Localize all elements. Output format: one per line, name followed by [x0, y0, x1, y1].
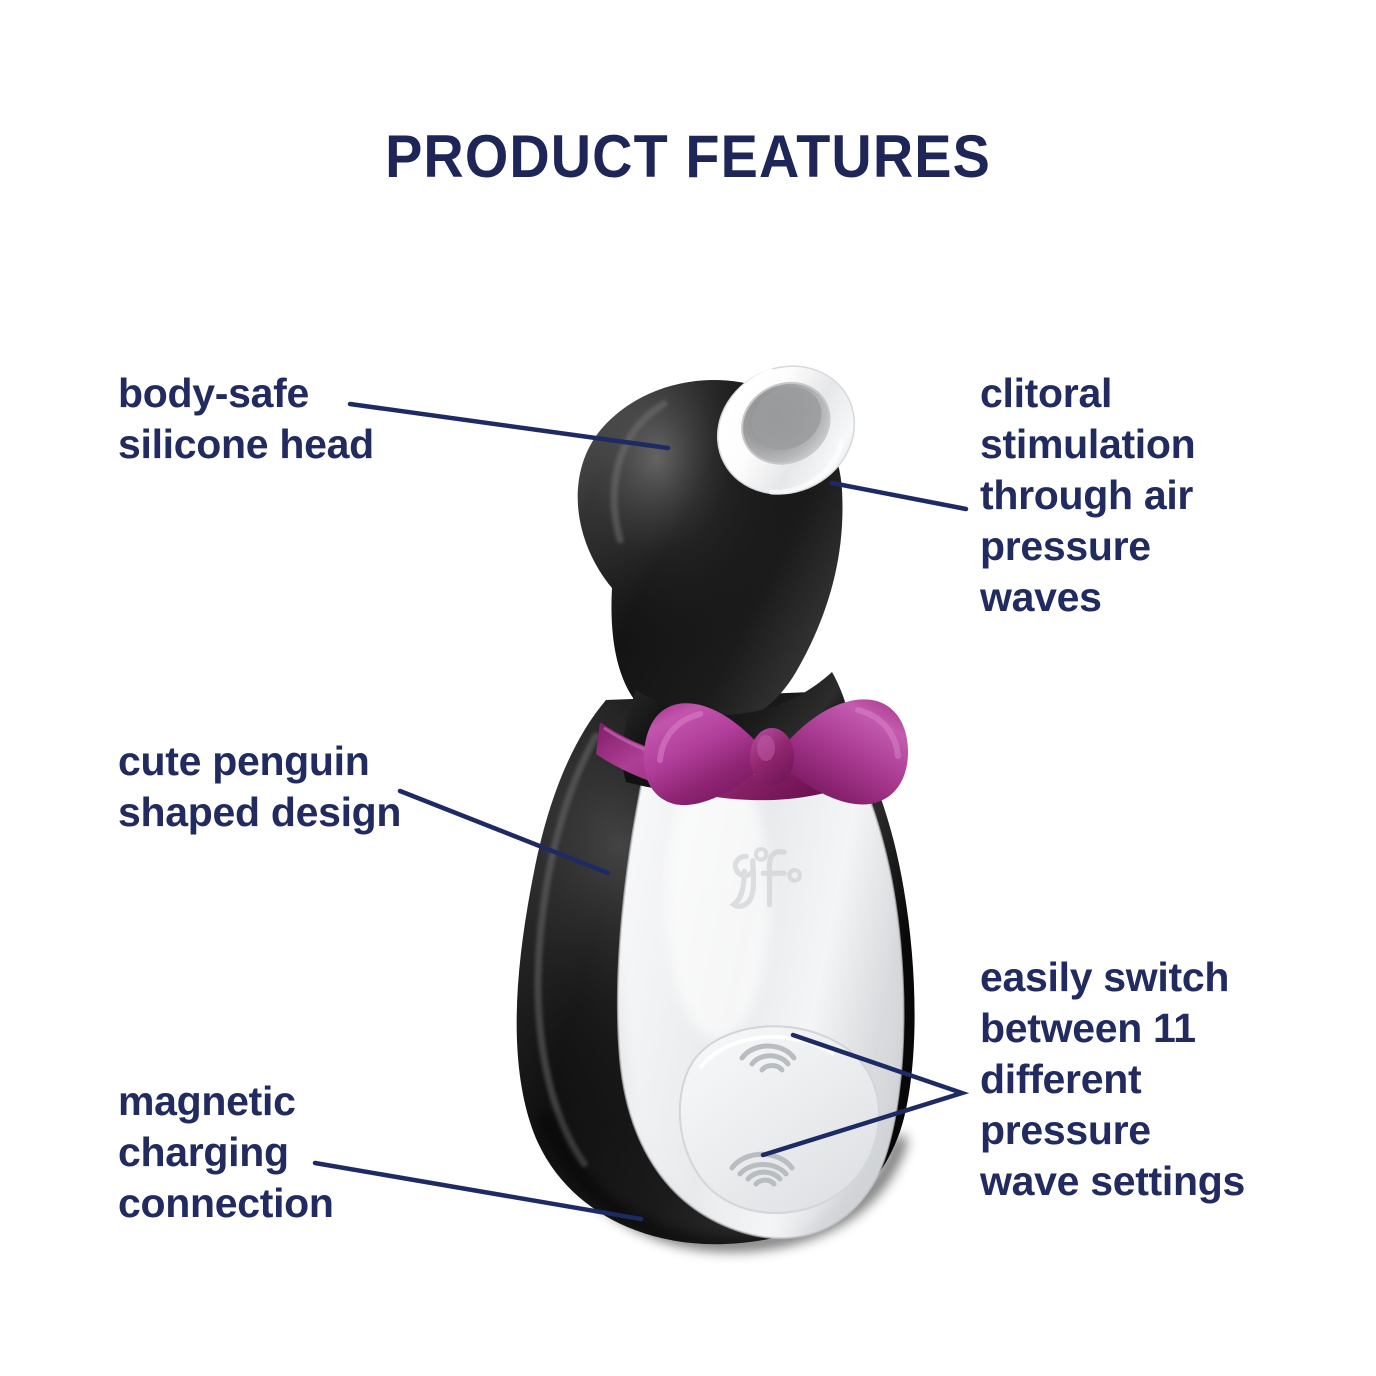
callout-label-pressure-wave-settings: easily switch between 11 different press… — [980, 952, 1300, 1207]
callout-label-clitoral-stimulation: clitoral stimulation through air pressur… — [980, 368, 1280, 623]
control-pad[interactable] — [680, 1026, 879, 1213]
callout-label-cute-penguin: cute penguin shaped design — [118, 736, 538, 838]
callout-label-body-safe: body-safe silicone head — [118, 368, 538, 470]
feature-diagram-canvas: PRODUCT FEATURES — [0, 0, 1376, 1376]
callout-label-magnetic-charging: magnetic charging connection — [118, 1076, 518, 1229]
